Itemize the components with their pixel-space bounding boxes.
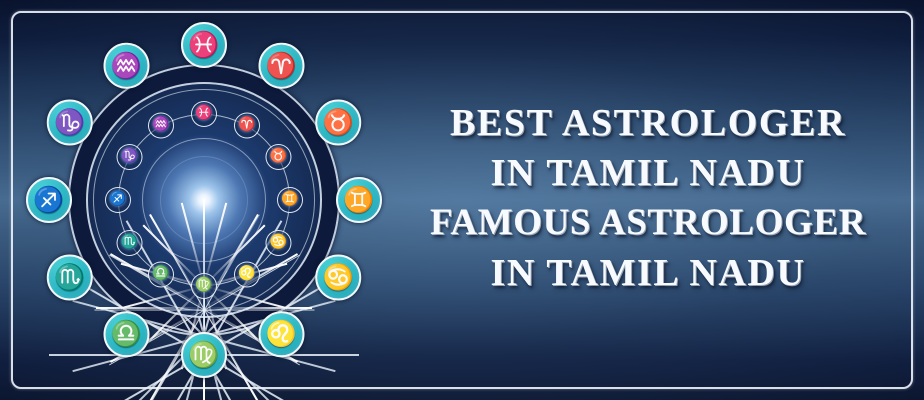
zodiac-badge-taurus[interactable]: ♉ — [315, 100, 361, 146]
headline-line-1: BEST ASTROLOGER — [392, 98, 904, 148]
headline-block: BEST ASTROLOGER IN TAMIL NADU FAMOUS AST… — [392, 98, 904, 298]
zodiac-badge-leo[interactable]: ♌ — [259, 311, 305, 357]
center-ray — [96, 307, 204, 309]
inner-sign-scorpio: ♏ — [117, 230, 143, 256]
inner-sign-cancer: ♋ — [265, 230, 291, 256]
zodiac-badge-scorpio[interactable]: ♏ — [47, 255, 93, 301]
headline-line-2: IN TAMIL NADU — [392, 148, 904, 198]
inner-sign-aries: ♈ — [234, 113, 260, 139]
inner-sign-sagittarius: ♐ — [105, 187, 131, 213]
inner-sign-capricorn: ♑ — [117, 144, 143, 170]
zodiac-badge-pisces[interactable]: ♓ — [181, 22, 227, 68]
zodiac-wheel: ♓♈♉♊♋♌♍♎♏♐♑♒ ♓♈♉♊♋♌♍♎♏♐♑♒ — [22, 18, 386, 382]
zodiac-badge-aries[interactable]: ♈ — [259, 43, 305, 89]
zodiac-badge-libra[interactable]: ♎ — [104, 311, 150, 357]
inner-sign-aquarius: ♒ — [148, 113, 174, 139]
wheel-spoke — [94, 310, 204, 311]
zodiac-wheel-graphic: ♓♈♉♊♋♌♍♎♏♐♑♒ ♓♈♉♊♋♌♍♎♏♐♑♒ — [22, 18, 386, 382]
zodiac-badge-capricorn[interactable]: ♑ — [47, 100, 93, 146]
center-ray — [204, 307, 312, 309]
inner-sign-leo: ♌ — [234, 261, 260, 287]
inner-sign-libra: ♎ — [148, 261, 174, 287]
zodiac-badge-aquarius[interactable]: ♒ — [104, 43, 150, 89]
inner-sign-virgo: ♍ — [191, 273, 217, 299]
headline-line-3: FAMOUS ASTROLOGER — [392, 198, 904, 248]
zodiac-badge-virgo[interactable]: ♍ — [181, 332, 227, 378]
inner-sign-gemini: ♊ — [277, 187, 303, 213]
zodiac-badge-gemini[interactable]: ♊ — [336, 177, 382, 223]
inner-sign-taurus: ♉ — [265, 144, 291, 170]
headline-line-4: IN TAMIL NADU — [392, 248, 904, 298]
inner-sign-pisces: ♓ — [191, 101, 217, 127]
zodiac-badge-cancer[interactable]: ♋ — [315, 255, 361, 301]
astrology-promo-banner: ♓♈♉♊♋♌♍♎♏♐♑♒ ♓♈♉♊♋♌♍♎♏♐♑♒ BEST ASTROLOGE… — [0, 0, 924, 400]
zodiac-badge-sagittarius[interactable]: ♐ — [26, 177, 72, 223]
wheel-spoke — [204, 310, 314, 311]
